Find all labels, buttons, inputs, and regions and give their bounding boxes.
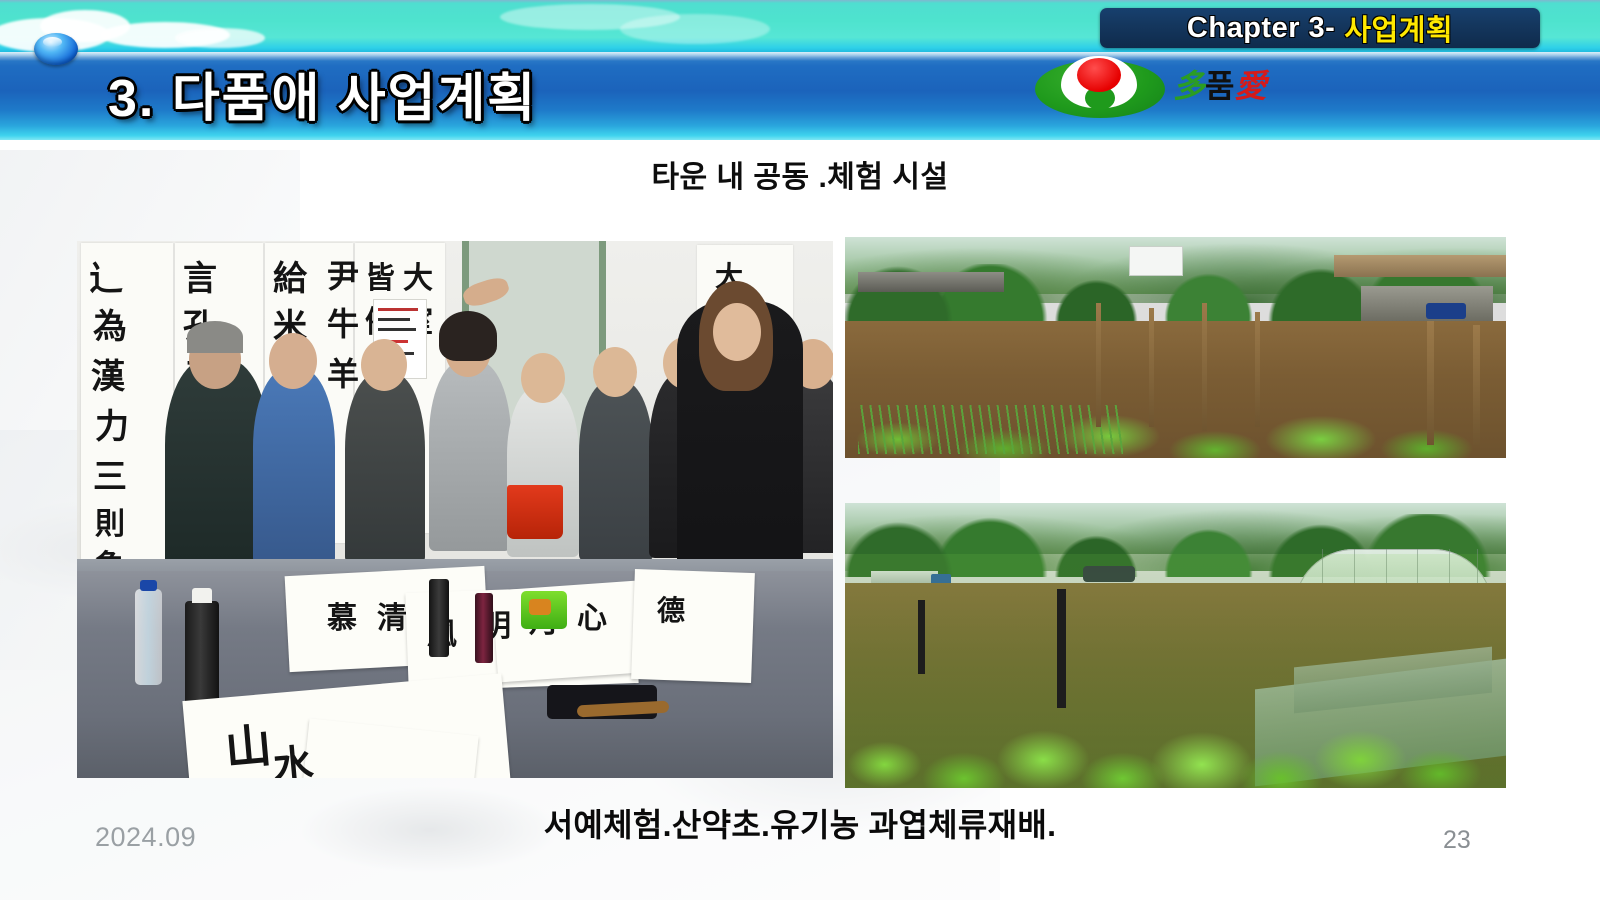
- wall-glyph: 漢: [91, 349, 125, 398]
- calligraphy-paper: [631, 569, 755, 683]
- page-number: 23: [1443, 826, 1471, 855]
- blue-orb-icon: [34, 33, 78, 65]
- paper-glyph: 心: [577, 593, 607, 637]
- photo-organic-field-top: [845, 237, 1506, 458]
- onion-seedling-row: [858, 405, 1122, 454]
- support-stake: [1427, 321, 1434, 445]
- chapter-badge-en-label: Chapter 3-: [1187, 12, 1335, 45]
- wall-glyph: 三: [93, 449, 127, 498]
- person-face: [269, 333, 317, 389]
- slide-caption: 서예체험.산약초.유기농 과엽체류재배.: [0, 800, 1600, 846]
- paper-glyph: 清: [377, 593, 407, 637]
- slide-date: 2024.09: [95, 822, 196, 853]
- cloud-icon: [620, 14, 770, 44]
- cloud-icon: [175, 28, 265, 48]
- person-hair: [187, 321, 243, 353]
- wall-glyph: 牛: [327, 299, 359, 345]
- page-title: 3. 다품애 사업계획: [108, 56, 537, 131]
- paper-glyph: 慕: [327, 593, 357, 637]
- black-post: [1057, 589, 1066, 709]
- logo-char-love: 愛: [1234, 68, 1266, 104]
- person-student: [253, 369, 335, 564]
- ink-bottle: [429, 579, 449, 657]
- support-stake: [1149, 308, 1154, 427]
- photo-calligraphy-workshop: 辶 為 漢 力 三 則 象 言 孔 子 大 聖 給 米 臣 愚 尹 牛 羊 皆 …: [77, 241, 833, 778]
- wall-glyph: 則: [95, 499, 125, 543]
- farm-shed: [1334, 255, 1506, 277]
- black-post: [918, 600, 925, 674]
- support-stake: [1473, 325, 1480, 444]
- wall-glyph: 辶: [89, 251, 123, 300]
- wall-glyph: 大: [403, 253, 433, 297]
- person-student: [429, 361, 511, 551]
- logo-red-circle-icon: [1077, 58, 1121, 92]
- person-face: [361, 339, 407, 391]
- wall-glyph: 言: [183, 251, 217, 300]
- ink-bottle: [475, 593, 493, 663]
- logo-char-many: 多: [1173, 68, 1205, 104]
- red-bucket: [507, 485, 563, 539]
- logo-green-ellipse-icon: [1035, 60, 1165, 118]
- person-face: [713, 303, 761, 361]
- wall-glyph: 皆: [365, 253, 395, 297]
- ink-bottle: [185, 601, 219, 705]
- wall-glyph: 力: [95, 399, 129, 448]
- water-bottle: [135, 589, 162, 685]
- white-building: [1129, 246, 1183, 276]
- person-hair: [439, 311, 497, 361]
- wall-glyph: 尹: [327, 251, 359, 297]
- wall-glyph: 羊: [327, 349, 359, 395]
- farm-shed: [858, 272, 1003, 292]
- person-face: [521, 353, 565, 403]
- wall-glyph: 給: [273, 251, 307, 300]
- slide-subtitle: 타운 내 공동 .체험 시설: [0, 152, 1600, 196]
- logo-char-pum: 품: [1205, 68, 1234, 104]
- green-cup: [521, 591, 567, 629]
- paper-glyph: 德: [657, 589, 685, 629]
- photo-organic-field-bottom: [845, 503, 1506, 788]
- chapter-badge: Chapter 3- 사업계획: [1100, 8, 1540, 48]
- paper-glyph: 山: [222, 709, 274, 778]
- logo-wordmark: 多품愛: [1173, 70, 1266, 102]
- support-stake: [1202, 303, 1207, 431]
- wall-glyph: 為: [93, 299, 127, 348]
- person-student: [345, 373, 425, 563]
- chapter-badge-kr-label: 사업계획: [1344, 7, 1453, 49]
- support-stake: [1255, 312, 1260, 427]
- brand-logo: 多품愛: [1035, 58, 1265, 132]
- support-stake: [1096, 303, 1101, 427]
- paper-glyph: 水: [271, 731, 316, 778]
- person-student: [579, 381, 653, 561]
- person-face: [593, 347, 637, 397]
- herb-crop-rows: [845, 554, 1506, 788]
- presentation-slide: Chapter 3- 사업계획 3. 다품애 사업계획 多품愛 타운 내 공동 …: [0, 0, 1600, 900]
